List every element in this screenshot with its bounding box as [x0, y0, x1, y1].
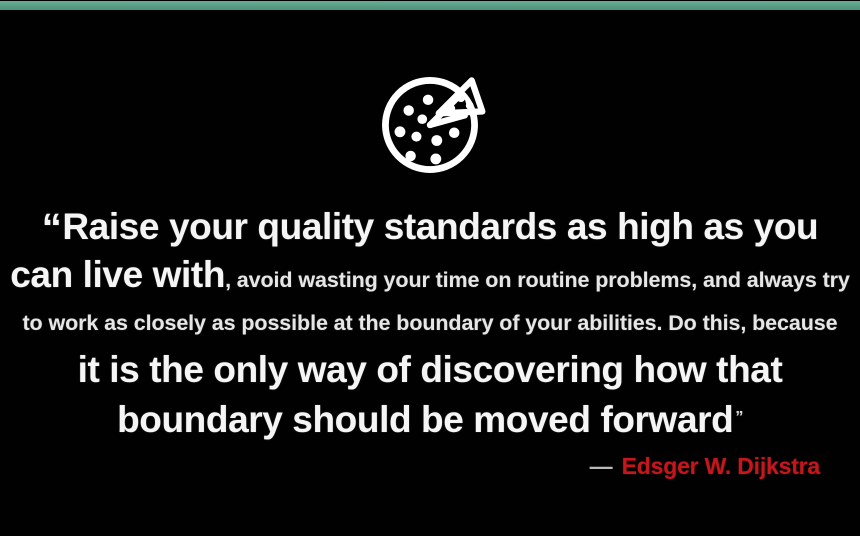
quote-line-3-text: to work as closely as possible at the bo…: [23, 311, 838, 335]
quote-line-5-text: boundary should be moved forward: [117, 399, 733, 440]
quote-block: “Raise your quality standards as high as…: [0, 203, 860, 444]
top-accent-bar: [0, 1, 860, 10]
quote-line-5: boundary should be moved forward”: [0, 394, 860, 444]
quote-line-2: can live with, avoid wasting your time o…: [0, 252, 860, 306]
open-quote-mark: “: [42, 206, 62, 250]
attribution-author: Edsger W. Dijkstra: [622, 455, 820, 478]
quote-line-3: to work as closely as possible at the bo…: [0, 304, 860, 342]
quote-line-1: “Raise your quality standards as high as…: [0, 203, 860, 252]
quote-line-4-text: it is the only way of discovering how th…: [78, 349, 783, 390]
pizza-icon-container: [0, 55, 860, 195]
attribution-dash: —: [590, 455, 613, 478]
pizza-slice-icon: [368, 63, 492, 187]
attribution: — Edsger W. Dijkstra: [590, 455, 820, 478]
quote-line-1-text: Raise your quality standards as high as …: [62, 206, 818, 247]
quote-slide: “Raise your quality standards as high as…: [0, 0, 860, 536]
quote-line-2-emphasis: can live with: [10, 254, 225, 295]
quote-line-4: it is the only way of discovering how th…: [0, 346, 860, 394]
quote-line-2-text: , avoid wasting your time on routine pro…: [225, 268, 850, 292]
close-quote-mark: ”: [735, 409, 743, 426]
